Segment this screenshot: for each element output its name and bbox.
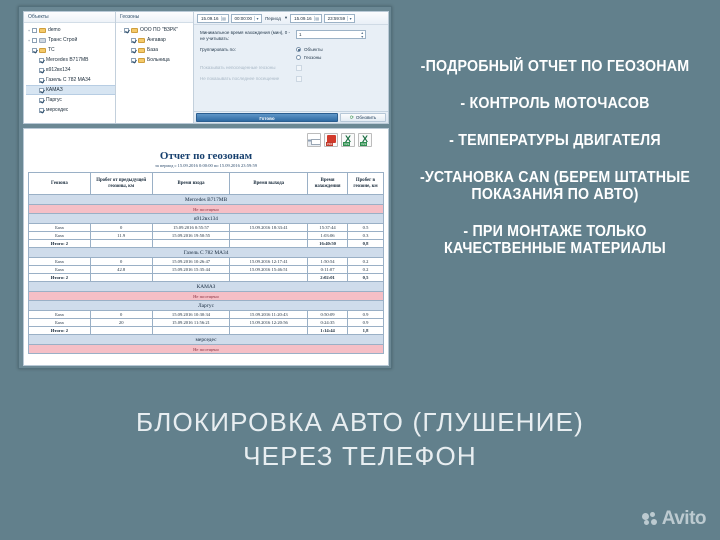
cell-zone: База <box>29 232 91 240</box>
radio-objects-dot <box>296 47 301 52</box>
promo-line-3: - ТЕМПЕРАТУРЫ ДВИГАТЕЛЯ <box>411 132 700 149</box>
col-header-prevkm: Пробег от предыдущей геозоны, км <box>90 173 152 195</box>
pdf-icon[interactable] <box>324 133 338 147</box>
col-header-zone: Геозона <box>29 173 91 195</box>
report-group-row: Ларгус <box>29 301 384 311</box>
report-group-row: в912вх134 <box>29 214 384 224</box>
object-tree-item[interactable]: в912вх134 <box>26 65 115 75</box>
cell-enter-time: 15.09.2016 0:55:57 <box>152 224 230 232</box>
cell-exit-time: 15.09.2016 12:17:41 <box>230 258 308 266</box>
stepper-arrows-icon[interactable]: ▲▼ <box>361 31 364 39</box>
cell-total-km: 0,5 <box>348 274 384 282</box>
objects-panel: Объекты +demo+Транс Строй-ТСMercedes B71… <box>24 12 116 123</box>
object-tree-item-label: КАМАЗ <box>46 87 63 93</box>
object-tree-item[interactable]: Mercedes B717MB <box>26 55 115 65</box>
hide-last-visit-checkbox <box>296 76 302 82</box>
report-total-row: Итого: 21:14:441,8 <box>29 327 384 335</box>
xls-icon[interactable] <box>341 133 355 147</box>
checkbox-icon[interactable] <box>39 58 44 63</box>
cell-enter-time: 15.09.2016 15:35:44 <box>152 266 230 274</box>
checkbox-icon[interactable] <box>131 48 136 53</box>
time-to-value: 23:59:59 <box>326 16 348 21</box>
show-unvisited-row: Показывать непосещенные геозоны <box>200 65 382 71</box>
promo-text-block: -ПОДРОБНЫЙ ОТЧЕТ ПО ГЕОЗОНАМ - КОНТРОЛЬ … <box>398 58 712 277</box>
cell-prev-km: 20 <box>90 319 152 327</box>
object-tree-item[interactable]: Паргус <box>26 95 115 105</box>
table-row: База2015.09.2016 11:56:2115.09.2016 12:2… <box>29 319 384 327</box>
geozone-tree-item-label: Больница <box>147 57 170 63</box>
report-view: Отчет по геозонам за период с 15.09.2016… <box>23 128 389 366</box>
report-not-visited-row: Не посещено <box>29 205 384 214</box>
radio-geozones-dot <box>296 55 301 60</box>
report-total-row: Итого: 22:02:010,5 <box>29 274 384 282</box>
min-time-value: 1 <box>299 32 302 37</box>
object-tree-item-label: Mercedes B717MB <box>46 57 89 63</box>
object-tree-item-label: ТС <box>48 47 55 53</box>
report-not-visited-row: Не посещено <box>29 292 384 301</box>
report-table-body: Mercedes B717MBНе посещенов912вх134База0… <box>29 195 384 354</box>
geozone-icon <box>138 48 145 53</box>
promo-line-2: - КОНТРОЛЬ МОТОЧАСОВ <box>411 95 700 112</box>
cell-duration: 0:11:07 <box>308 266 348 274</box>
report-group-row: КАМАЗ <box>29 282 384 292</box>
cell-zone: База <box>29 224 91 232</box>
time-from-value: 00:00:00 <box>233 16 255 21</box>
radio-objects-label: Объекты <box>304 47 323 52</box>
report-subtitle: за период с 15.09.2016 0:00:00 по 15.09.… <box>24 163 388 168</box>
done-button[interactable]: Готово <box>196 113 338 122</box>
cell-total-enter <box>152 327 230 335</box>
col-header-km: Пробег в геозоне, км <box>348 173 384 195</box>
cell-total-exit <box>230 240 308 248</box>
geozone-tree-item[interactable]: База <box>118 45 193 55</box>
table-row: База015.09.2016 0:55:5715.09.2016 18:33:… <box>29 224 384 232</box>
refresh-button[interactable]: ⟳ Обновить <box>340 113 386 122</box>
promo-line-4: -УСТАНОВКА CAN (БЕРЕМ ШТАТНЫЕ ПОКАЗАНИЯ … <box>411 169 700 203</box>
headline-line-1: БЛОКИРОВКА АВТО (ГЛУШЕНИЕ) <box>0 405 720 439</box>
col-header-duration: Время нахождения <box>308 173 348 195</box>
export-toolbar <box>24 129 388 147</box>
cell-exit-time <box>230 232 308 240</box>
min-time-stepper[interactable]: 1 ▲▼ <box>296 30 366 39</box>
cell-zone-km: 0.2 <box>348 258 384 266</box>
cell-enter-time: 15.09.2016 19:50:55 <box>152 232 230 240</box>
report-group-row: мерседес <box>29 335 384 345</box>
cell-total-enter <box>152 274 230 282</box>
geozone-tree-item-label: ООО ПО "ВЗРК" <box>140 27 178 33</box>
geozone-icon <box>138 58 145 63</box>
cell-exit-time: 15.09.2016 12:20:56 <box>230 319 308 327</box>
headline-block: БЛОКИРОВКА АВТО (ГЛУШЕНИЕ) ЧЕРЕЗ ТЕЛЕФОН <box>0 405 720 473</box>
geozone-tree-item-label: База <box>147 47 158 53</box>
cell-duration: 1:03:06 <box>308 232 348 240</box>
cell-exit-time: 15.09.2016 18:33:41 <box>230 224 308 232</box>
cell-prev-km: 42.8 <box>90 266 152 274</box>
checkbox-icon[interactable] <box>124 28 129 33</box>
settings-footer: Готово ⟳ Обновить <box>194 111 388 123</box>
geozone-tree-item[interactable]: Больница <box>118 55 193 65</box>
cell-prev-km: 11.9 <box>90 232 152 240</box>
checkbox-icon[interactable] <box>39 68 44 73</box>
geozone-tree-item[interactable]: -ООО ПО "ВЗРК" <box>118 25 193 35</box>
checkbox-icon[interactable] <box>32 38 37 43</box>
cell-prev-km: 0 <box>90 224 152 232</box>
report-group-name: в912вх134 <box>29 214 384 224</box>
checkbox-icon[interactable] <box>131 38 136 43</box>
checkbox-icon[interactable] <box>39 98 44 103</box>
cell-enter-time: 15.09.2016 11:56:21 <box>152 319 230 327</box>
cell-duration: 0:24:35 <box>308 319 348 327</box>
object-tree-item[interactable]: -ТС <box>26 45 115 55</box>
cell-total-exit <box>230 274 308 282</box>
checkbox-icon[interactable] <box>39 88 44 93</box>
date-to-value: 15.09.16 <box>292 16 314 21</box>
settings-panel: 15.09.16 ▤ 00:00:00 ▾ Период ▾ 15.09.16 … <box>194 12 388 123</box>
folder-icon <box>131 28 138 33</box>
chevron-down-icon-2[interactable]: ▾ <box>347 16 353 21</box>
refresh-label: Обновить <box>356 115 376 120</box>
report-group-row: Mercedes B717MB <box>29 195 384 205</box>
checkbox-icon[interactable] <box>32 48 37 53</box>
group-by-row: Группировать по: Объекты Геозоны <box>200 47 382 60</box>
time-from-field[interactable]: 00:00:00 ▾ <box>231 14 263 23</box>
checkbox-icon[interactable] <box>39 78 44 83</box>
app-screenshot-panel: Объекты +demo+Транс Строй-ТСMercedes B71… <box>18 6 392 369</box>
radio-geozones[interactable]: Геозоны <box>296 55 323 60</box>
report-not-visited-label: Не посещено <box>29 205 384 214</box>
cell-exit-time: 15.09.2016 11:20:43 <box>230 311 308 319</box>
min-time-row: Минимальное время нахождения (мин), 0 - … <box>200 30 382 42</box>
avito-watermark: Avito <box>642 508 706 530</box>
cell-zone-km: 0.9 <box>348 311 384 319</box>
hide-last-visit-label: Не показывать последнее посещение <box>200 76 296 82</box>
avito-logo-icon <box>642 512 658 526</box>
object-tree-item-label: Транс Строй <box>48 37 77 43</box>
cell-total-duration: 1:14:44 <box>308 327 348 335</box>
period-chevron-down-icon[interactable]: ▾ <box>284 15 288 21</box>
date-from-field[interactable]: 15.09.16 ▤ <box>197 14 229 23</box>
geozones-panel-header: Геозоны <box>116 12 193 23</box>
cell-duration: 0:50:09 <box>308 311 348 319</box>
report-group-name: Ларгус <box>29 301 384 311</box>
xlsx-icon[interactable] <box>358 133 372 147</box>
report-group-name: КАМАЗ <box>29 282 384 292</box>
geozones-tree[interactable]: -ООО ПО "ВЗРК"АнгаварБазаБольница <box>116 23 193 65</box>
promo-line-5: - ПРИ МОНТАЖЕ ТОЛЬКО КАЧЕСТВЕННЫЕ МАТЕРИ… <box>411 223 700 257</box>
cell-total-km: 0,8 <box>348 240 384 248</box>
cell-total-prev-km <box>90 274 152 282</box>
settings-body: Минимальное время нахождения (мин), 0 - … <box>194 25 388 92</box>
report-not-visited-row: Не посещено <box>29 345 384 354</box>
geozones-panel: Геозоны -ООО ПО "ВЗРК"АнгаварБазаБольниц… <box>116 12 194 123</box>
table-row: База42.815.09.2016 15:35:4415.09.2016 15… <box>29 266 384 274</box>
object-tree-item[interactable]: +Транс Строй <box>26 35 115 45</box>
folder-icon <box>39 28 46 33</box>
checkbox-icon[interactable] <box>32 28 37 33</box>
show-unvisited-label: Показывать непосещенные геозоны <box>200 65 296 71</box>
col-header-enter: Время входа <box>152 173 230 195</box>
cell-total-prev-km <box>90 240 152 248</box>
objects-tree[interactable]: +demo+Транс Строй-ТСMercedes B717MBв912в… <box>24 23 115 115</box>
cell-total-label: Итого: 2 <box>29 327 91 335</box>
cell-exit-time: 15.09.2016 15:46:51 <box>230 266 308 274</box>
cell-total-km: 1,8 <box>348 327 384 335</box>
cell-total-exit <box>230 327 308 335</box>
folder-grey-icon <box>39 38 46 43</box>
object-tree-item-label: demo <box>48 27 61 33</box>
checkbox-icon[interactable] <box>39 108 44 113</box>
cell-zone: База <box>29 266 91 274</box>
col-header-exit: Время выхода <box>230 173 308 195</box>
date-range-toolbar: 15.09.16 ▤ 00:00:00 ▾ Период ▾ 15.09.16 … <box>194 12 388 25</box>
table-row: База015.09.2016 10:30:3415.09.2016 11:20… <box>29 311 384 319</box>
chevron-down-icon[interactable]: ▾ <box>254 16 260 21</box>
calendar-icon[interactable]: ▤ <box>221 16 227 21</box>
object-tree-item[interactable]: +demo <box>26 25 115 35</box>
promo-line-1: -ПОДРОБНЫЙ ОТЧЕТ ПО ГЕОЗОНАМ <box>411 58 700 75</box>
cell-zone-km: 0.2 <box>348 266 384 274</box>
cell-total-label: Итого: 2 <box>29 274 91 282</box>
cell-enter-time: 15.09.2016 10:26:47 <box>152 258 230 266</box>
geozone-tree-item[interactable]: Ангавар <box>118 35 193 45</box>
report-group-name: мерседес <box>29 335 384 345</box>
object-tree-item[interactable]: мерседес <box>26 105 115 115</box>
date-to-field[interactable]: 15.09.16 ▤ <box>290 14 322 23</box>
object-tree-item[interactable]: КАМАЗ <box>26 85 115 95</box>
report-not-visited-label: Не посещено <box>29 345 384 354</box>
table-row: База11.915.09.2016 19:50:551:03:060.3 <box>29 232 384 240</box>
object-tree-item-label: мерседес <box>46 107 68 113</box>
cell-duration: 15:37:44 <box>308 224 348 232</box>
cell-zone: База <box>29 311 91 319</box>
checkbox-icon[interactable] <box>131 58 136 63</box>
refresh-icon: ⟳ <box>350 115 354 121</box>
geozone-tree-item-label: Ангавар <box>147 37 166 43</box>
show-unvisited-checkbox <box>296 65 302 71</box>
table-row: База015.09.2016 10:26:4715.09.2016 12:17… <box>29 258 384 266</box>
report-table-head: Геозона Пробег от предыдущей геозоны, км… <box>29 173 384 195</box>
cell-total-duration: 16:40:50 <box>308 240 348 248</box>
report-configuration-panel: Объекты +demo+Транс Строй-ТСMercedes B71… <box>23 11 389 124</box>
avito-wordmark: Avito <box>662 508 706 530</box>
cell-enter-time: 15.09.2016 10:30:34 <box>152 311 230 319</box>
headline-line-2: ЧЕРЕЗ ТЕЛЕФОН <box>0 439 720 473</box>
report-header-row: Геозона Пробег от предыдущей геозоны, км… <box>29 173 384 195</box>
folder-icon <box>39 48 46 53</box>
cell-zone-km: 0.9 <box>348 319 384 327</box>
report-not-visited-label: Не посещено <box>29 292 384 301</box>
object-tree-item[interactable]: Газель С 782 МА34 <box>26 75 115 85</box>
cell-total-prev-km <box>90 327 152 335</box>
report-group-name: Газель С 782 МА34 <box>29 248 384 258</box>
object-tree-item-label: Газель С 782 МА34 <box>46 77 91 83</box>
time-to-field[interactable]: 23:59:59 ▾ <box>324 14 356 23</box>
cell-prev-km: 0 <box>90 311 152 319</box>
print-icon[interactable] <box>307 133 321 147</box>
report-title: Отчет по геозонам <box>24 150 388 162</box>
geozone-icon <box>138 38 145 43</box>
radio-objects[interactable]: Объекты <box>296 47 323 52</box>
cell-total-duration: 2:02:01 <box>308 274 348 282</box>
cell-total-label: Итого: 2 <box>29 240 91 248</box>
objects-panel-header: Объекты <box>24 12 115 23</box>
object-tree-item-label: в912вх134 <box>46 67 71 73</box>
min-time-label: Минимальное время нахождения (мин), 0 - … <box>200 30 296 42</box>
cell-zone: База <box>29 319 91 327</box>
cell-total-enter <box>152 240 230 248</box>
report-group-name: Mercedes B717MB <box>29 195 384 205</box>
group-by-radios: Объекты Геозоны <box>296 47 323 60</box>
cell-zone: База <box>29 258 91 266</box>
calendar-icon-2[interactable]: ▤ <box>314 16 320 21</box>
cell-prev-km: 0 <box>90 258 152 266</box>
group-by-label: Группировать по: <box>200 47 296 53</box>
report-total-row: Итого: 216:40:500,8 <box>29 240 384 248</box>
radio-geozones-label: Геозоны <box>304 55 321 60</box>
cell-duration: 1:50:54 <box>308 258 348 266</box>
date-from-value: 15.09.16 <box>199 16 221 21</box>
object-tree-item-label: Паргус <box>46 97 62 103</box>
period-label: Период <box>264 16 282 21</box>
hide-last-visit-row: Не показывать последнее посещение <box>200 76 382 82</box>
cell-zone-km: 0.5 <box>348 224 384 232</box>
report-group-row: Газель С 782 МА34 <box>29 248 384 258</box>
report-table: Геозона Пробег от предыдущей геозоны, км… <box>28 172 384 354</box>
cell-zone-km: 0.3 <box>348 232 384 240</box>
